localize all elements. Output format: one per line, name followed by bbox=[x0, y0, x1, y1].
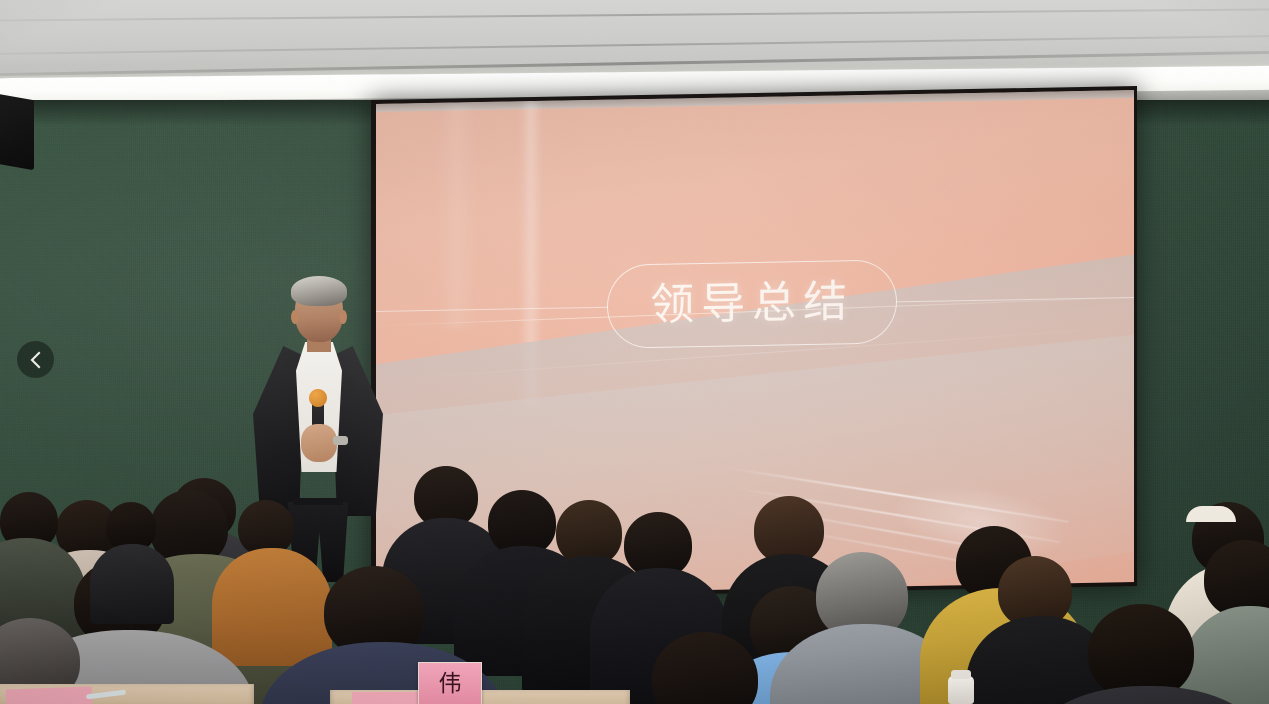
slide-title-group: 领导总结 bbox=[607, 259, 897, 349]
presenter-watch bbox=[333, 436, 348, 445]
presenter-ear bbox=[339, 310, 347, 324]
presenter-trousers bbox=[285, 502, 351, 582]
name-placard: 伟 bbox=[418, 662, 482, 704]
presentation-photo-scene: 领导总结 bbox=[0, 0, 1269, 704]
slide-title-pill: 领导总结 bbox=[607, 259, 897, 349]
water-bottle-cap bbox=[951, 670, 971, 679]
presenter-hands bbox=[301, 424, 337, 462]
ceiling-speaker bbox=[0, 92, 34, 170]
presenter-hair bbox=[291, 276, 347, 306]
name-placard-text: 伟 bbox=[439, 673, 462, 696]
prev-slide-button[interactable] bbox=[17, 341, 54, 378]
microphone-head bbox=[309, 389, 327, 407]
ceiling bbox=[0, 0, 1269, 78]
ceiling-seam bbox=[0, 8, 1269, 21]
water-bottle bbox=[948, 676, 974, 704]
chevron-left-icon bbox=[29, 351, 43, 369]
projection-screen: 领导总结 bbox=[376, 90, 1134, 596]
presenter-ear bbox=[291, 310, 299, 324]
slide-title-rule-left bbox=[376, 307, 608, 313]
slide-title-text: 领导总结 bbox=[650, 279, 854, 329]
desk-paper bbox=[6, 687, 93, 704]
presenter bbox=[249, 276, 385, 576]
ceiling-seam bbox=[0, 35, 1269, 55]
presenter-belt bbox=[293, 498, 343, 505]
screen-light-streak bbox=[437, 102, 477, 329]
